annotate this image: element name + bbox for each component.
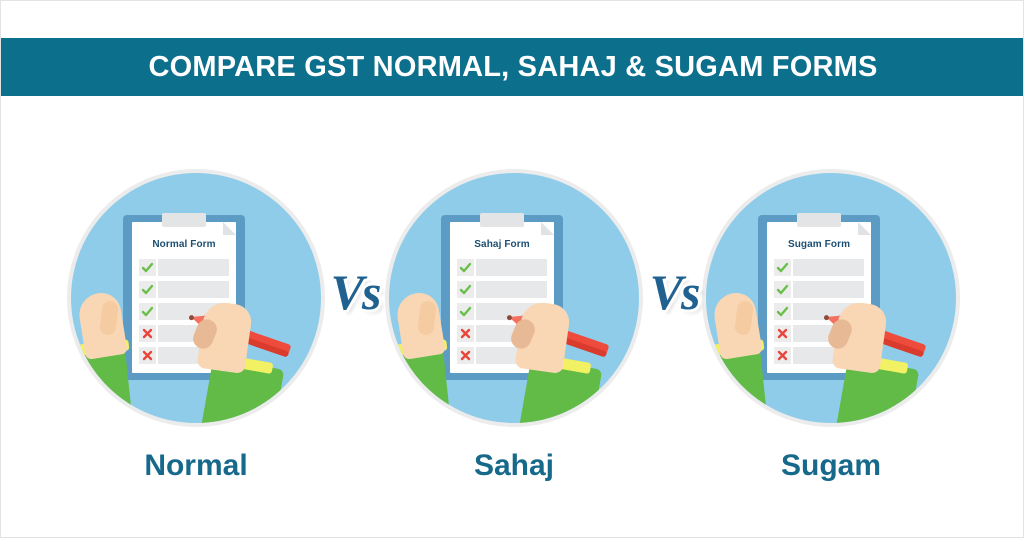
form-row	[139, 281, 229, 298]
paper-fold-corner-icon	[541, 222, 554, 235]
right-hand-illustration	[814, 301, 934, 423]
vs-separator-2: Vs	[638, 256, 710, 328]
comparison-panel-sahaj: Sahaj Form	[385, 161, 643, 461]
right-hand-illustration	[497, 301, 617, 423]
form-row	[457, 281, 547, 298]
form-row-bar	[793, 281, 864, 298]
check-icon	[774, 259, 791, 276]
left-hand-illustration	[706, 293, 780, 423]
check-icon	[457, 259, 474, 276]
form-title-sugam: Sugam Form	[767, 239, 871, 250]
paper-fold-corner-icon	[858, 222, 871, 235]
form-row-bar	[158, 281, 229, 298]
caption-sahaj: Sahaj	[385, 449, 643, 483]
form-title-normal: Normal Form	[132, 239, 236, 250]
form-row-bar	[793, 259, 864, 276]
form-row-bar	[476, 259, 547, 276]
form-row-bar	[476, 281, 547, 298]
title-banner: COMPARE GST NORMAL, SAHAJ & SUGAM FORMS	[1, 38, 1024, 96]
comparison-panel-sugam: Sugam Form	[702, 161, 960, 461]
paper-fold-corner-icon	[223, 222, 236, 235]
comparison-panel-normal: Normal Form	[67, 161, 325, 461]
page-title: COMPARE GST NORMAL, SAHAJ & SUGAM FORMS	[148, 51, 877, 84]
form-row	[139, 259, 229, 276]
clipboard-clip-icon	[162, 213, 206, 227]
circle-backdrop-normal: Normal Form	[71, 173, 321, 423]
form-row	[774, 281, 864, 298]
form-row-bar	[158, 259, 229, 276]
caption-sugam: Sugam	[702, 449, 960, 483]
vs-separator-1: Vs	[319, 256, 391, 328]
caption-normal: Normal	[67, 449, 325, 483]
check-icon	[139, 259, 156, 276]
circle-backdrop-sahaj: Sahaj Form	[389, 173, 639, 423]
comparison-row: Normal Form	[1, 161, 1024, 461]
form-row	[774, 259, 864, 276]
right-hand-illustration	[179, 301, 299, 423]
left-hand-illustration	[71, 293, 145, 423]
circle-backdrop-sugam: Sugam Form	[706, 173, 956, 423]
form-row	[457, 259, 547, 276]
clipboard-clip-icon	[797, 213, 841, 227]
form-title-sahaj: Sahaj Form	[450, 239, 554, 250]
captions-row: Normal Sahaj Sugam	[1, 449, 1024, 499]
infographic-page: COMPARE GST NORMAL, SAHAJ & SUGAM FORMS …	[0, 0, 1024, 538]
clipboard-clip-icon	[480, 213, 524, 227]
left-hand-illustration	[389, 293, 463, 423]
